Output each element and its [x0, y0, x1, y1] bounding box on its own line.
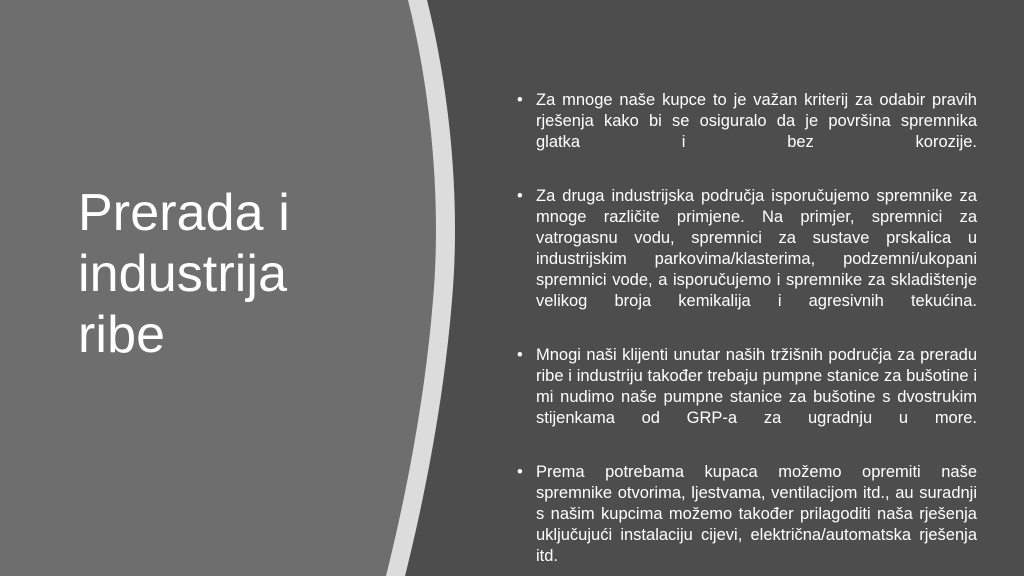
- list-item-text: Za druga industrijska područja isporučuj…: [536, 186, 977, 333]
- list-item-text: Za mnoge naše kupce to je važan kriterij…: [536, 90, 977, 174]
- title-line-3: ribe: [78, 305, 378, 366]
- list-item: • Za mnoge naše kupce to je važan kriter…: [512, 90, 977, 174]
- list-item: • Mnogi naši klijenti unutar naših tržiš…: [512, 345, 977, 450]
- bullet-dot-icon: •: [517, 462, 531, 483]
- list-item-text: Prema potrebama kupaca možemo opremiti n…: [536, 462, 977, 576]
- list-item: • Prema potrebama kupaca možemo opremiti…: [512, 462, 977, 576]
- bullet-dot-icon: •: [517, 90, 531, 111]
- title-line-2: industrija: [78, 244, 378, 305]
- bullet-dot-icon: •: [517, 186, 531, 207]
- list-item-text: Mnogi naši klijenti unutar naših tržišni…: [536, 345, 977, 450]
- slide: Prerada i industrija ribe • Za mnoge naš…: [0, 0, 1024, 576]
- page-title: Prerada i industrija ribe: [78, 183, 378, 366]
- bullet-list: • Za mnoge naše kupce to je važan kriter…: [512, 90, 977, 576]
- list-item: • Za druga industrijska područja isporuč…: [512, 186, 977, 333]
- bullet-dot-icon: •: [517, 345, 531, 366]
- title-line-1: Prerada i: [78, 183, 378, 244]
